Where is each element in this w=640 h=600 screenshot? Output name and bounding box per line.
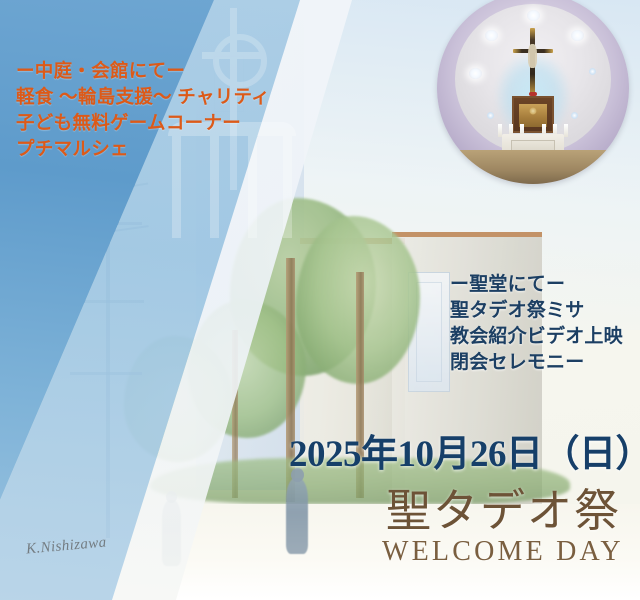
tree-canopy-4 [124,336,232,462]
wall-light-right-low [571,112,578,119]
wall-light-left-low [487,112,494,119]
ceiling-spotlight-3 [571,30,584,41]
chapel-line-1: ー聖堂にてー [450,272,623,298]
ceiling-spotlight-4 [469,68,482,79]
pedestrian-figure-2 [162,500,181,566]
chapel-line-3: 教会紹介ビデオ上映 [450,324,623,350]
ceiling-spotlight-1 [527,10,540,21]
utility-wire-2 [0,225,149,248]
pedestrian-figure [286,478,308,554]
sanctuary-photo [437,0,629,184]
pedestrian-head-2 [166,491,177,503]
courtyard-line-3: 子ども無料ゲームコーナー [16,110,270,136]
utility-crossarm-2 [74,300,144,303]
utility-wire-1 [0,183,148,208]
sanctuary-floor [437,150,629,184]
courtyard-program-block: ー中庭・会館にてー 軽食 〜輪島支援〜 チャリティ 子ども無料ゲームコーナー プ… [16,58,270,162]
courtyard-line-4: プチマルシェ [16,136,270,162]
event-title-en: WELCOME DAY [382,536,624,568]
event-title-ja: 聖タデオ祭 [386,486,621,536]
event-date: 2025年10月26日（日） [289,434,640,476]
chapel-program-block: ー聖堂にてー 聖タデオ祭ミサ 教会紹介ビデオ上映 閉会セレモニー [450,272,623,376]
event-poster: ー中庭・会館にてー 軽食 〜輪島支援〜 チャリティ 子ども無料ゲームコーナー プ… [0,0,640,600]
utility-pole [106,186,110,538]
courtyard-line-1: ー中庭・会館にてー [16,58,270,84]
ceiling-spotlight-2 [485,30,498,41]
chapel-line-2: 聖タデオ祭ミサ [450,298,623,324]
courtyard-line-2: 軽食 〜輪島支援〜 チャリティ [16,84,270,110]
utility-crossarm-1 [78,222,142,225]
crucifix-icon [510,28,556,94]
utility-crossarm-3 [70,372,142,375]
wall-light-right [589,68,596,75]
chapel-line-4: 閉会セレモニー [450,350,623,376]
